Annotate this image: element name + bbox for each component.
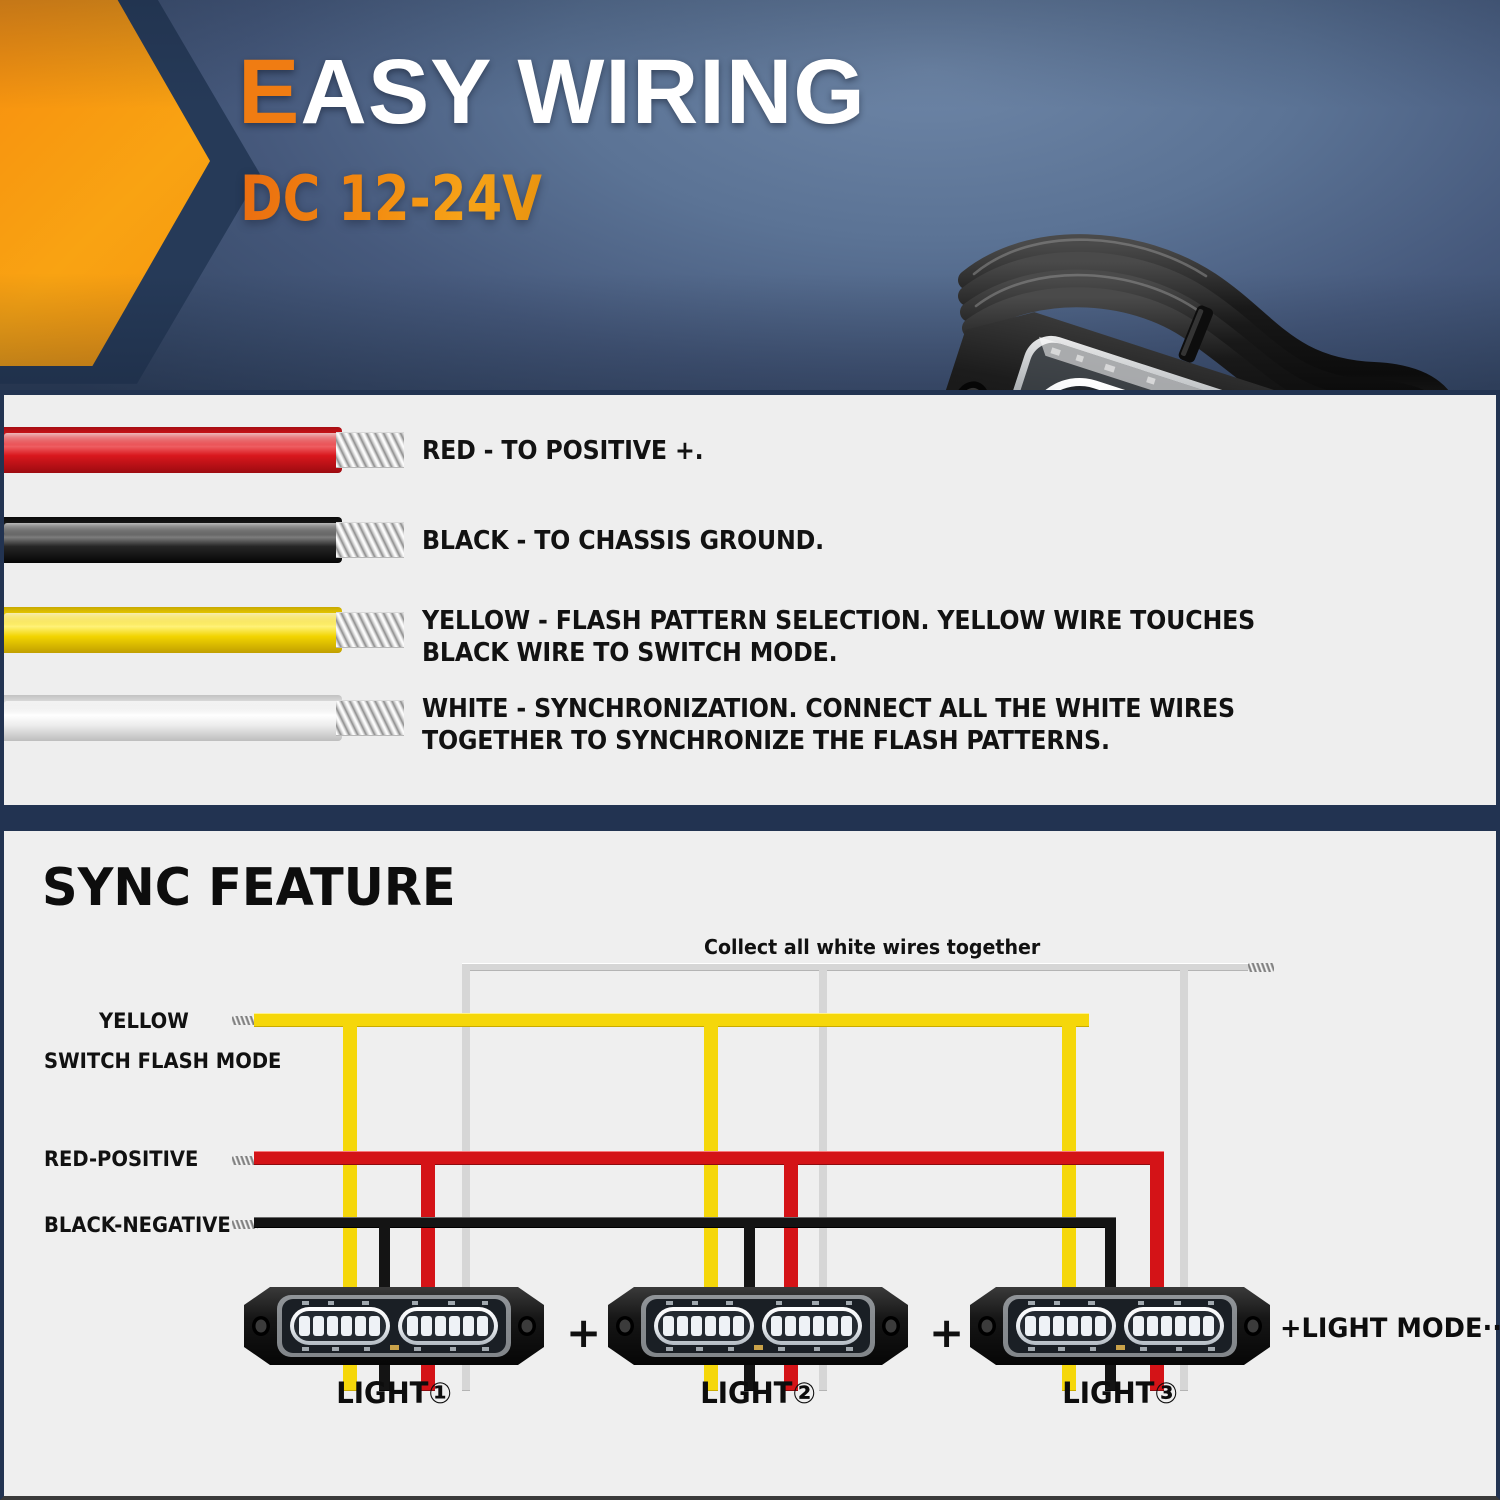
label-red-positive: RED-POSITIVE — [44, 1147, 198, 1171]
wire-copper-strands-black — [336, 522, 404, 558]
sync-feature-panel: SYNC FEATURE Collect all white wires tog… — [0, 831, 1500, 1500]
collect-white-wires-note: Collect all white wires together — [704, 935, 1040, 959]
product-photo: FI-B125-1 — [818, 222, 1458, 390]
wire-insulation-white — [4, 695, 342, 741]
separator-plus-1: + — [566, 1308, 601, 1357]
wire-copper-strands-white — [336, 700, 404, 736]
section-divider — [0, 805, 1500, 831]
led-module-graphic-1 — [244, 1283, 544, 1369]
wire-legend-band: RED - TO POSITIVE +. BLACK - TO CHASSIS … — [0, 390, 1500, 805]
white-bus-tip — [1248, 963, 1274, 972]
light-2-caption: LIGHT② — [630, 1376, 887, 1410]
white-bus-horizontal — [462, 963, 1264, 971]
infographic-page: EASY WIRING DC 12-24V — [0, 0, 1500, 1500]
voltage-subtitle: DC 12-24V — [240, 168, 542, 230]
label-black-negative: BLACK-NEGATIVE — [44, 1213, 231, 1237]
sync-section-title: SYNC FEATURE — [42, 858, 456, 918]
led-module-graphic-3 — [970, 1283, 1270, 1369]
led-light-module-3 — [970, 1283, 1270, 1369]
led-light-module-2 — [608, 1283, 908, 1369]
wire-insulation-red — [4, 427, 342, 473]
wire-copper-strands-yellow — [336, 612, 404, 648]
hero-banner: EASY WIRING DC 12-24V — [0, 0, 1500, 390]
title-rest: ASY WIRING — [300, 41, 865, 143]
wire-label-black: BLACK - TO CHASSIS GROUND. — [422, 525, 1315, 557]
wire-insulation-yellow — [4, 607, 342, 653]
light-1-caption: LIGHT① — [266, 1376, 523, 1410]
wire-label-yellow: YELLOW - FLASH PATTERN SELECTION. YELLOW… — [422, 605, 1315, 669]
red-bus-horizontal — [254, 1151, 1164, 1165]
wire-label-red: RED - TO POSITIVE +. — [422, 435, 1315, 467]
title-accent-letter: E — [238, 41, 300, 143]
wire-label-white: WHITE - SYNCHRONIZATION. CONNECT ALL THE… — [422, 693, 1315, 757]
yellow-bus-horizontal — [254, 1013, 1089, 1027]
page-title: EASY WIRING — [238, 46, 866, 138]
wire-copper-strands-red — [336, 432, 404, 468]
light-3-caption: LIGHT③ — [992, 1376, 1249, 1410]
led-light-module-1 — [244, 1283, 544, 1369]
wire-insulation-black — [4, 517, 342, 563]
label-yellow: YELLOW — [99, 1009, 189, 1033]
more-light-mode-label: +LIGHT MODE··· — [1280, 1313, 1500, 1344]
led-module-graphic-2 — [608, 1283, 908, 1369]
label-yellow-sub: SWITCH FLASH MODE — [44, 1049, 281, 1073]
separator-plus-2: + — [929, 1308, 964, 1357]
